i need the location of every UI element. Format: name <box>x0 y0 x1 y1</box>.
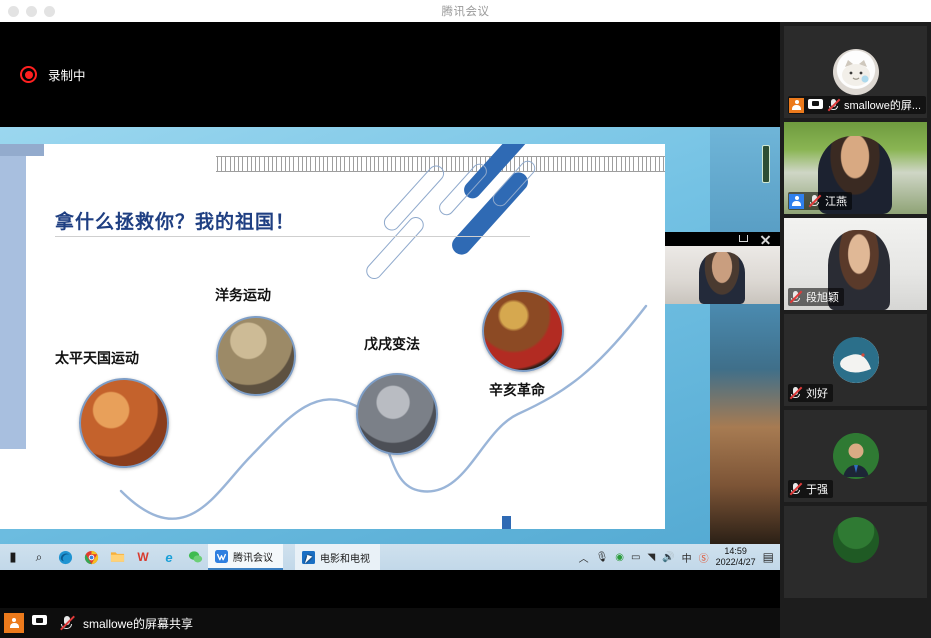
cat-avatar-icon <box>833 49 879 95</box>
tencent-meeting-icon <box>215 550 228 563</box>
tile-badges: 段旭颖 <box>788 288 844 306</box>
scrollbar-thumb[interactable] <box>762 145 770 183</box>
person-silhouette <box>699 252 745 304</box>
host-badge-icon <box>789 98 804 113</box>
mic-muted-icon <box>59 615 75 632</box>
mic-muted-icon <box>789 482 802 496</box>
start-icon[interactable]: ▮ <box>0 544 26 570</box>
window-title: 腾讯会议 <box>0 3 931 19</box>
taskbar-task-label: 电影和电视 <box>320 550 370 565</box>
timeline-node-4-image <box>482 290 564 372</box>
timeline-node-2-label: 洋务运动 <box>215 285 271 305</box>
volume-icon[interactable]: 🔊 <box>662 552 674 563</box>
avatar <box>833 337 879 383</box>
decor-blue-foot <box>502 516 511 529</box>
close-icon[interactable] <box>760 234 771 245</box>
zoom-window-button[interactable] <box>44 6 55 17</box>
minimize-icon[interactable] <box>739 235 748 242</box>
close-window-button[interactable] <box>8 6 19 17</box>
timeline-node-1-label: 太平天国运动 <box>55 348 139 368</box>
taskbar-clock[interactable]: 14:59 2022/4/27 <box>716 546 756 568</box>
wps-icon[interactable]: W <box>130 544 156 570</box>
floating-video-window[interactable] <box>665 232 780 304</box>
screen-share-icon <box>808 99 823 112</box>
mic-muted-icon <box>808 194 821 208</box>
tencent-meeting-window: 腾讯会议 录制中 <box>0 0 931 638</box>
timeline-node-3-image <box>356 373 438 455</box>
bird-avatar-icon <box>833 337 879 383</box>
tile-badges: 江燕 <box>788 192 852 210</box>
mic-muted-icon <box>827 98 840 112</box>
participant-name: 于强 <box>806 481 828 497</box>
participant-name: 江燕 <box>825 193 847 209</box>
tile-badges: 于强 <box>788 480 833 498</box>
clock-time: 14:59 <box>716 546 756 557</box>
participant-tile[interactable]: 江燕 <box>784 122 927 214</box>
traffic-lights <box>8 6 55 17</box>
avatar <box>833 517 879 563</box>
meeting-stage: 录制中 拿什么拯救你？我的祖国！ <box>0 22 780 616</box>
usb-device-icon[interactable]: ▭ <box>631 552 640 563</box>
window-title-bar: 腾讯会议 <box>0 0 931 22</box>
network-icon[interactable]: ◥ <box>647 552 655 563</box>
taskbar-task-label: 腾讯会议 <box>233 549 273 564</box>
file-explorer-icon[interactable] <box>104 544 130 570</box>
floating-window-titlebar <box>665 232 780 246</box>
participant-name: 刘好 <box>806 385 828 401</box>
screen-share-icon <box>32 615 51 631</box>
windows-taskbar: ▮ ⌕ W e 腾讯会议 电影和电视 <box>0 544 780 570</box>
system-tray: ︿ 🎙 ◉ ▭ ◥ 🔊 中 Ⓢ 14:59 2022/4/27 ▤ <box>579 546 780 568</box>
floating-video-feed <box>665 246 780 304</box>
tile-badges: smallowe的屏... <box>788 96 926 114</box>
timeline-curve <box>26 156 665 529</box>
person-avatar-icon <box>833 433 879 479</box>
chrome-icon[interactable] <box>78 544 104 570</box>
wechat-icon[interactable] <box>182 544 208 570</box>
participant-tile[interactable] <box>784 506 927 598</box>
sogou-ime-icon[interactable]: Ⓢ <box>699 550 709 565</box>
presentation-slide: 拿什么拯救你？我的祖国！ 太平天国运动 洋务运动 戊戌变法 <box>0 144 665 529</box>
participant-badge-icon <box>789 194 804 209</box>
participant-rail[interactable]: smallowe的屏... 江燕 <box>780 22 931 638</box>
slide-content-area: 拿什么拯救你？我的祖国！ 太平天国运动 洋务运动 戊戌变法 <box>26 156 665 529</box>
clock-date: 2022/4/27 <box>716 557 756 568</box>
participant-name: 段旭颖 <box>806 289 839 305</box>
shared-screen: 拿什么拯救你？我的祖国！ 太平天国运动 洋务运动 戊戌变法 <box>0 127 780 544</box>
participant-tile[interactable]: 于强 <box>784 410 927 502</box>
search-icon[interactable]: ⌕ <box>26 544 52 570</box>
participant-tile[interactable]: 刘好 <box>784 314 927 406</box>
show-desktop-icon[interactable]: ▤ <box>763 550 774 564</box>
tile-badges: 刘好 <box>788 384 833 402</box>
mic-muted-icon <box>789 290 802 304</box>
taskbar-task-tencent-meeting[interactable]: 腾讯会议 <box>208 544 283 570</box>
avatar <box>833 49 879 95</box>
participant-name: smallowe的屏... <box>844 97 921 113</box>
recording-indicator: 录制中 <box>20 65 86 84</box>
ime-language-icon[interactable]: 中 <box>682 550 692 565</box>
participant-tile[interactable]: smallowe的屏... <box>784 26 927 118</box>
participant-tile[interactable]: 段旭颖 <box>784 218 927 310</box>
host-badge-icon <box>4 613 24 633</box>
internet-explorer-icon[interactable]: e <box>156 544 182 570</box>
record-dot-icon <box>20 66 37 83</box>
recording-label: 录制中 <box>48 65 86 84</box>
minimize-window-button[interactable] <box>26 6 37 17</box>
mic-muted-icon <box>789 386 802 400</box>
timeline-node-1-image <box>79 378 169 468</box>
timeline-node-4-label: 辛亥革命 <box>489 380 545 400</box>
recording-bar: 录制中 <box>0 22 780 105</box>
screen-share-status-bar: smallowe的屏幕共享 <box>0 608 780 638</box>
edge-icon[interactable] <box>52 544 78 570</box>
microphone-icon[interactable]: 🎙 <box>596 552 609 563</box>
antivirus-icon[interactable]: ◉ <box>615 552 624 563</box>
avatar <box>833 433 879 479</box>
tray-expand-icon[interactable]: ︿ <box>579 550 589 565</box>
share-status-label: smallowe的屏幕共享 <box>83 615 193 632</box>
desktop-wallpaper-photo <box>710 127 780 544</box>
timeline-node-3-label: 戊戌变法 <box>364 334 420 354</box>
timeline-node-2-image <box>216 316 296 396</box>
